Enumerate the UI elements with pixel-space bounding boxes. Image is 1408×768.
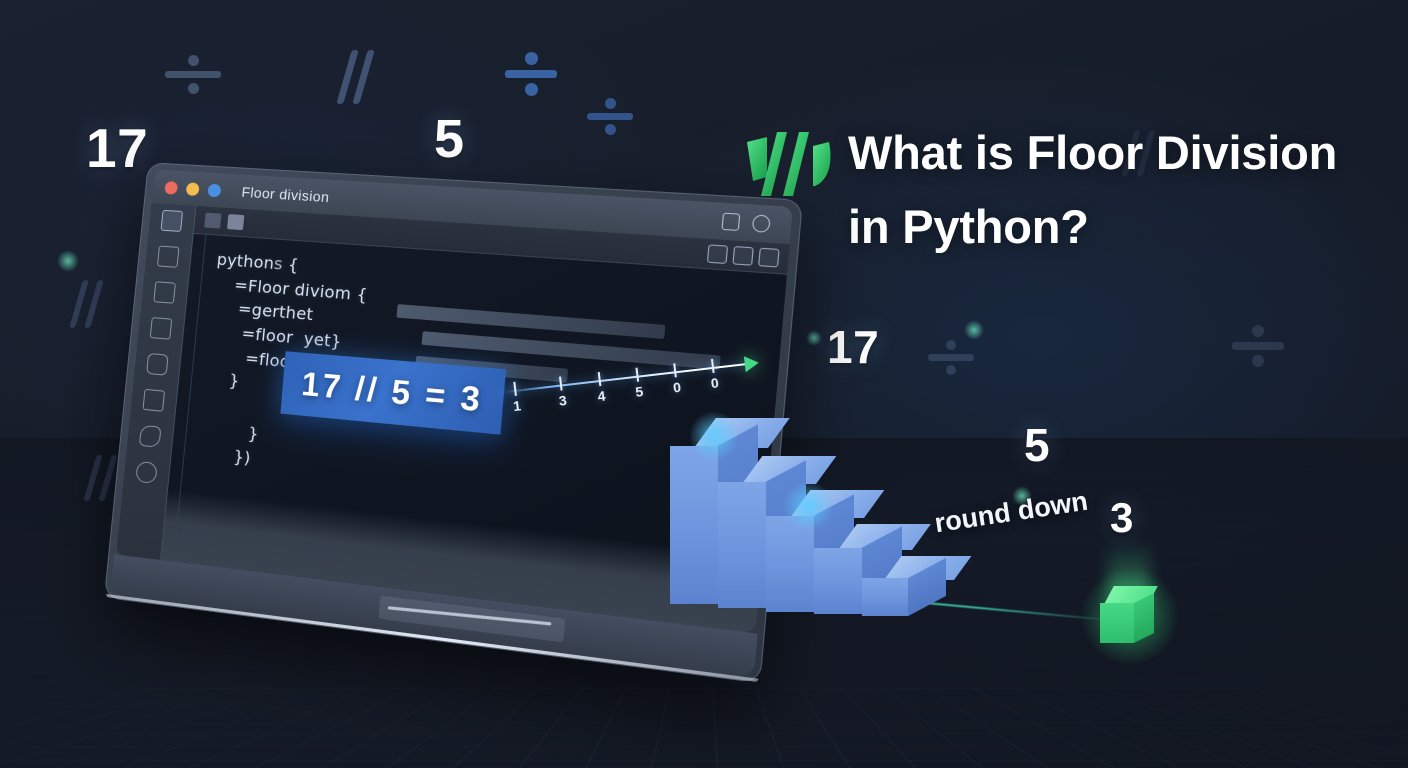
copy-icon[interactable] — [721, 213, 740, 231]
title-line-1: What is Floor Division — [848, 116, 1388, 190]
editor-toolbar[interactable] — [707, 244, 780, 267]
double-slash-icon — [344, 50, 367, 104]
tag-icon[interactable] — [139, 425, 162, 448]
lock-icon[interactable] — [707, 244, 728, 264]
page-title: What is Floor Division in Python? — [848, 116, 1388, 265]
equation-text: 17 // 5 = 3 — [300, 365, 484, 420]
staircase-blocks — [670, 408, 1070, 628]
spark-dot — [57, 250, 79, 272]
cube-front-face — [1100, 603, 1134, 643]
poster-canvas: 17 5 17 5 3 round down What is Floor Div… — [0, 0, 1408, 768]
division-symbol-icon — [1232, 325, 1284, 367]
cube-side-face — [1134, 593, 1154, 643]
number-line-label: 5 — [634, 383, 644, 400]
floating-number-5-top: 5 — [434, 108, 465, 170]
number-line-label: 0 — [672, 379, 682, 396]
tab-chip-icon[interactable] — [204, 213, 221, 229]
archive-icon[interactable] — [150, 317, 173, 340]
double-slash-logo-icon — [741, 128, 833, 200]
division-symbol-icon — [165, 55, 221, 94]
spark-dot — [806, 330, 822, 346]
window-title: Floor division — [241, 184, 330, 206]
number-line-label: 1 — [512, 397, 522, 414]
double-slash-icon — [90, 455, 111, 501]
grid-icon[interactable] — [153, 281, 176, 304]
floating-number-17-right: 17 — [827, 320, 879, 374]
scissors-icon[interactable] — [732, 246, 754, 266]
folder-icon[interactable] — [146, 353, 169, 376]
number-line-label: 4 — [597, 388, 607, 405]
floating-number-3-right: 3 — [1110, 494, 1134, 542]
spark-dot — [964, 320, 984, 340]
floor-grid — [0, 688, 1408, 768]
number-line-label: 3 — [558, 392, 568, 409]
refresh-icon[interactable] — [758, 248, 780, 268]
minimize-button[interactable] — [186, 182, 200, 196]
layout-icon[interactable] — [142, 389, 165, 412]
home-icon[interactable] — [161, 210, 184, 232]
division-symbol-icon — [587, 98, 633, 135]
floating-number-17-left: 17 — [86, 116, 148, 180]
division-symbol-icon — [505, 52, 557, 96]
result-cube — [1100, 586, 1158, 648]
refresh-icon[interactable] — [752, 214, 771, 232]
title-line-2: in Python? — [848, 190, 1388, 264]
tab-chip-selected-icon[interactable] — [227, 214, 244, 230]
maximize-button[interactable] — [207, 183, 221, 197]
division-symbol-icon — [928, 340, 974, 375]
number-line-arrow-icon — [744, 355, 760, 373]
file-icon[interactable] — [157, 245, 180, 267]
lock-icon[interactable] — [135, 461, 158, 484]
double-slash-icon — [76, 280, 97, 328]
close-button[interactable] — [164, 181, 178, 195]
number-line-label: 0 — [710, 374, 720, 391]
